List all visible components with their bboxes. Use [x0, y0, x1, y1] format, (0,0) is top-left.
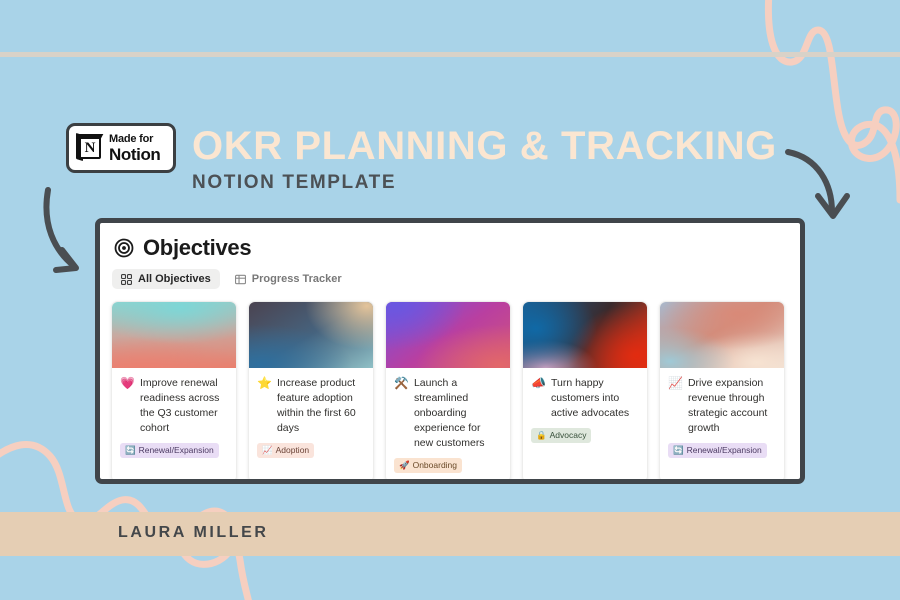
objective-card[interactable]: 📣 Turn happy customers into active advoc…	[522, 301, 648, 483]
objective-card-gallery: 💗 Improve renewal readiness across the Q…	[100, 289, 800, 483]
tab-all-objectives-label: All Objectives	[138, 273, 211, 285]
page-subtitle: NOTION TEMPLATE	[192, 172, 396, 194]
objective-tag: 📈 Adoption	[257, 443, 314, 458]
tag-label: Adoption	[276, 445, 310, 456]
card-cover-image	[112, 302, 236, 368]
tag-emoji: 🔄	[673, 445, 684, 456]
objective-title: Drive expansion revenue through strategi…	[688, 376, 776, 436]
top-divider-rule	[0, 52, 900, 57]
badge-brand-label: Notion	[109, 146, 160, 163]
hammer-and-wrench-emoji: ⚒️	[394, 376, 409, 391]
objective-tag: 🔒 Advocacy	[531, 428, 591, 443]
card-cover-image	[249, 302, 373, 368]
page-title: OKR PLANNING & TRACKING	[192, 124, 777, 169]
objective-title: Increase product feature adoption within…	[277, 376, 365, 436]
badge-made-for-label: Made for	[109, 134, 160, 145]
objective-tag: 🔄 Renewal/Expansion	[668, 443, 767, 458]
made-for-notion-badge: N Made for Notion	[66, 123, 176, 173]
objective-card[interactable]: ⚒️ Launch a streamlined onboarding exper…	[385, 301, 511, 483]
gallery-grid-icon	[121, 274, 132, 285]
tag-label: Renewal/Expansion	[139, 445, 214, 456]
tab-progress-tracker-label: Progress Tracker	[252, 273, 342, 285]
tag-emoji: 🚀	[399, 460, 410, 471]
author-name: LAURA MILLER	[118, 524, 269, 542]
database-title: Objectives	[143, 235, 251, 261]
view-tabs: All Objectives Progress Tracker	[100, 261, 800, 289]
star-emoji: ⭐	[257, 376, 272, 391]
card-cover-image	[523, 302, 647, 368]
card-cover-image	[386, 302, 510, 368]
tag-emoji: 🔄	[125, 445, 136, 456]
objective-card[interactable]: ⭐ Increase product feature adoption with…	[248, 301, 374, 483]
tag-label: Onboarding	[413, 460, 457, 471]
growing-heart-emoji: 💗	[120, 376, 135, 391]
tag-label: Advocacy	[550, 430, 587, 441]
notion-cube-letter: N	[79, 137, 101, 159]
tag-emoji: 🔒	[536, 430, 547, 441]
objective-tag: 🚀 Onboarding	[394, 458, 462, 473]
objective-title: Launch a streamlined onboarding experien…	[414, 376, 502, 451]
megaphone-emoji: 📣	[531, 376, 546, 391]
tab-all-objectives[interactable]: All Objectives	[112, 269, 220, 289]
tab-progress-tracker[interactable]: Progress Tracker	[226, 269, 351, 289]
notion-cube-icon: N	[76, 134, 104, 162]
objective-title: Turn happy customers into active advocat…	[551, 376, 639, 421]
tag-emoji: 📈	[262, 445, 273, 456]
window-header: Objectives	[100, 223, 800, 261]
target-icon	[114, 238, 134, 258]
table-icon	[235, 274, 246, 285]
notion-window: Objectives All Objectives Progress Track…	[95, 218, 805, 484]
objective-title: Improve renewal readiness across the Q3 …	[140, 376, 228, 436]
tag-label: Renewal/Expansion	[687, 445, 762, 456]
chart-increasing-emoji: 📈	[668, 376, 683, 391]
objective-card[interactable]: 💗 Improve renewal readiness across the Q…	[111, 301, 237, 483]
objective-tag: 🔄 Renewal/Expansion	[120, 443, 219, 458]
objective-card[interactable]: 📈 Drive expansion revenue through strate…	[659, 301, 785, 483]
card-cover-image	[660, 302, 784, 368]
